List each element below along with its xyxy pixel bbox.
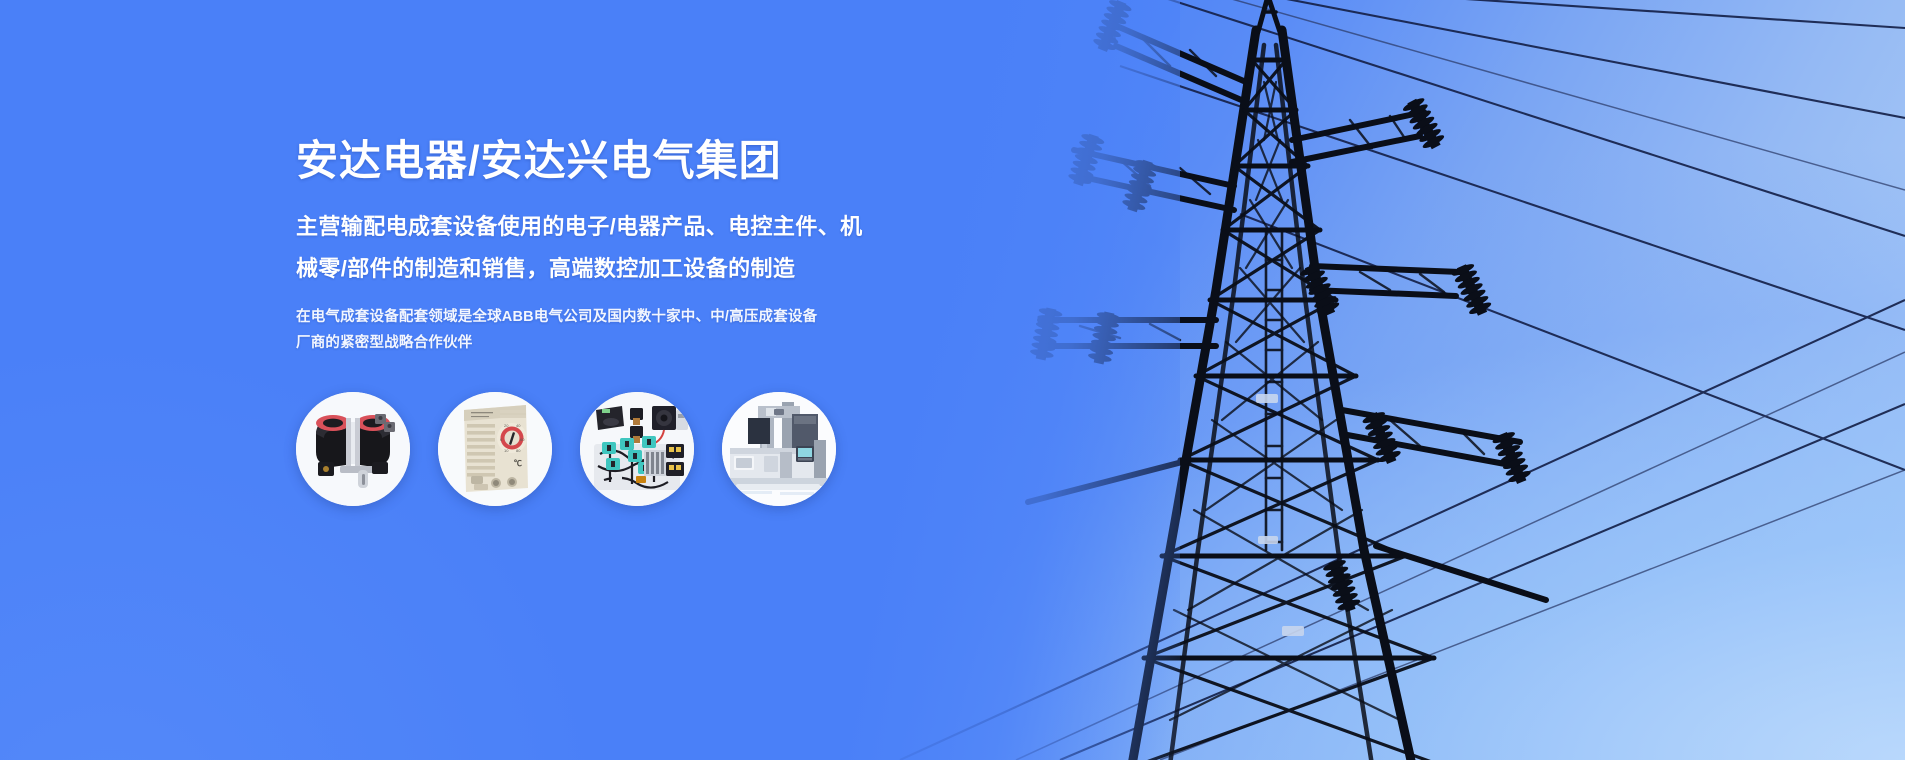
cnc-machining-center-icon <box>722 392 836 506</box>
product-thumb-cnc-machining-center[interactable] <box>722 392 836 506</box>
electrical-control-components-icon <box>580 392 694 506</box>
cabinet-thermostat-icon: 2040 060 1080 ℃ <box>438 392 552 506</box>
svg-text:20: 20 <box>504 423 509 428</box>
svg-text:40: 40 <box>516 423 521 428</box>
svg-text:60: 60 <box>520 437 525 442</box>
page-title: 安达电器/安达兴电气集团 <box>296 132 976 190</box>
product-thumbnail-row: 2040 060 1080 ℃ <box>296 392 836 506</box>
svg-text:80: 80 <box>516 448 521 453</box>
product-thumb-cabinet-thermostat[interactable]: 2040 060 1080 ℃ <box>438 392 552 506</box>
split-core-current-transformer-icon <box>296 392 410 506</box>
svg-text:10: 10 <box>504 448 509 453</box>
hero-banner: 安达电器/安达兴电气集团 主营输配电成套设备使用的电子/电器产品、电控主件、机械… <box>0 0 1905 760</box>
banner-copy: 安达电器/安达兴电气集团 主营输配电成套设备使用的电子/电器产品、电控主件、机械… <box>296 132 976 356</box>
product-thumb-split-core-current-transformer[interactable] <box>296 392 410 506</box>
banner-description: 在电气成套设备配套领域是全球ABB电气公司及国内数十家中、中/高压成套设备厂商的… <box>296 304 826 356</box>
banner-subtitle: 主营输配电成套设备使用的电子/电器产品、电控主件、机械零/部件的制造和销售，高端… <box>296 206 876 290</box>
product-thumb-electrical-control-components[interactable] <box>580 392 694 506</box>
svg-text:℃: ℃ <box>514 459 522 468</box>
